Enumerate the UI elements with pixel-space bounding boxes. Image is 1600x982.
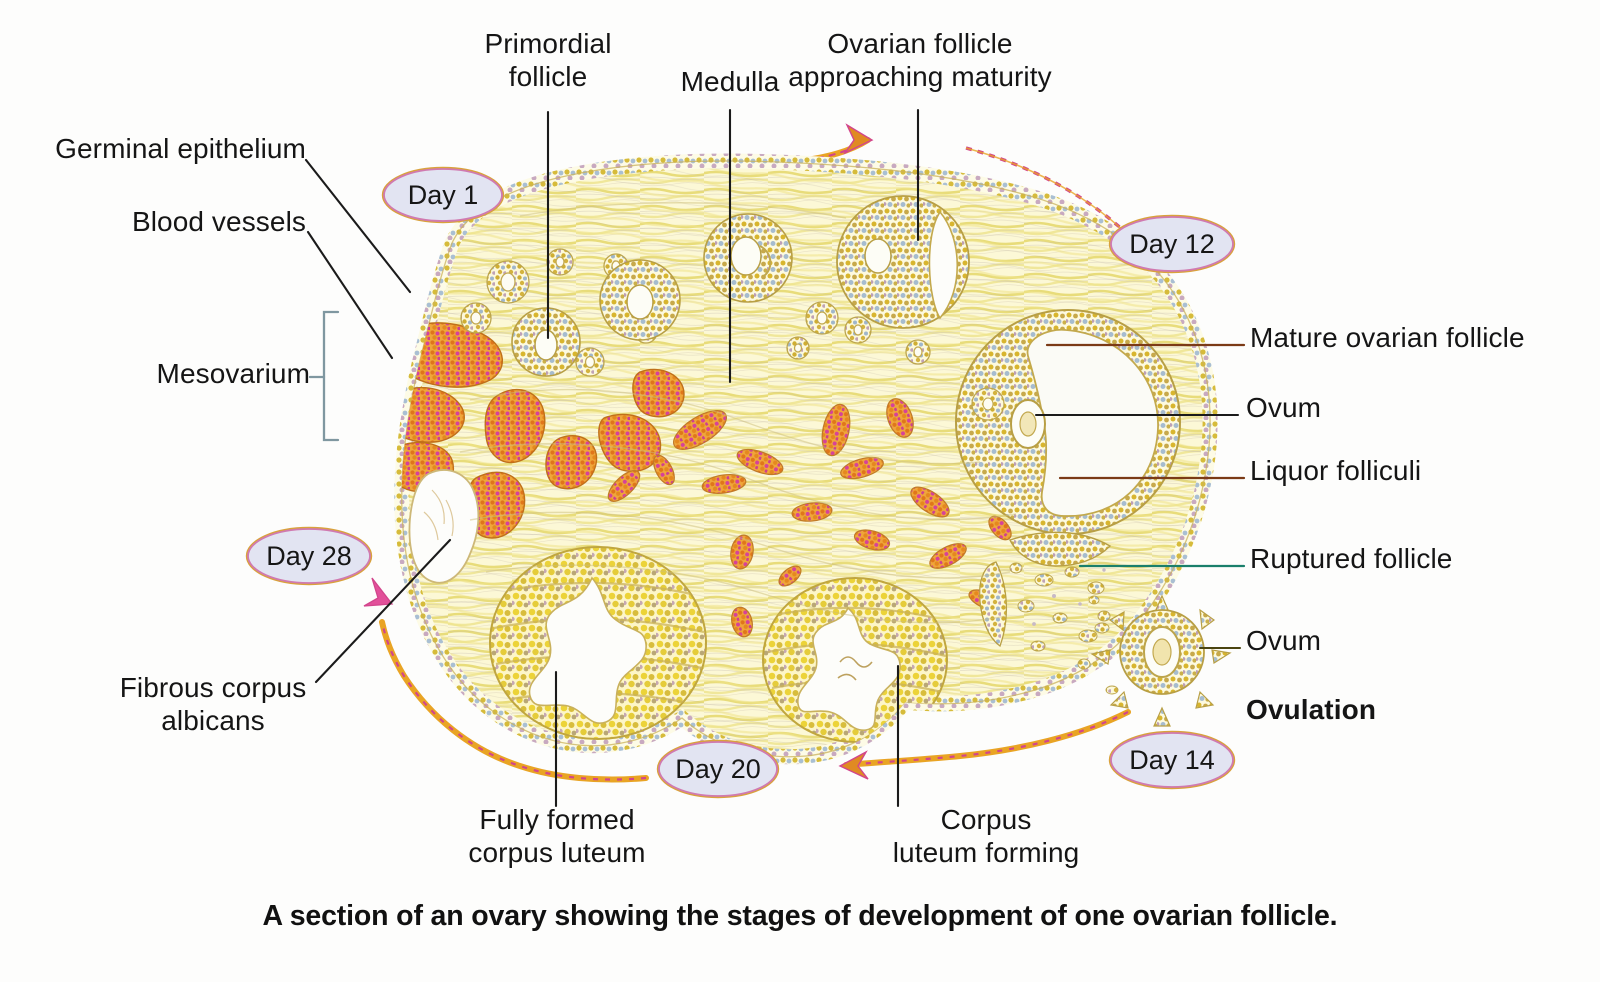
label-corpus-luteum-forming: Corpus luteum forming	[806, 804, 1166, 870]
label-germinal-epithelium: Germinal epithelium	[16, 133, 306, 166]
primordial-follicle	[512, 308, 580, 376]
mesovarium-bracket	[310, 312, 338, 440]
label-fully-formed-corpus-luteum: Fully formed corpus luteum	[372, 804, 742, 870]
label-ovarian-follicle-approaching-maturity: Ovarian follicle approaching maturity	[760, 28, 1080, 94]
blood-vessels-leader	[308, 232, 392, 358]
ovum-in-mature-follicle	[1011, 400, 1045, 448]
follicle-approaching-maturity	[837, 196, 969, 328]
label-mesovarium: Mesovarium	[10, 358, 310, 391]
label-liquor-folliculi: Liquor folliculi	[1250, 455, 1550, 488]
label-ovum-released: Ovum	[1246, 625, 1496, 658]
day-badge-day-14: Day 14	[1110, 733, 1234, 787]
mature-ovarian-follicle	[956, 310, 1180, 534]
label-ovulation: Ovulation	[1246, 694, 1526, 727]
day-badge-day-28: Day 28	[247, 529, 371, 583]
day-badge-day-12: Day 12	[1110, 217, 1234, 271]
ovary-diagram-figure: Germinal epithelium Blood vessels Mesova…	[0, 0, 1600, 982]
day-badge-day-20: Day 20	[658, 742, 778, 796]
day-badge-day-1: Day 1	[383, 168, 503, 222]
label-ruptured-follicle: Ruptured follicle	[1250, 543, 1580, 576]
label-blood-vessels: Blood vessels	[16, 206, 306, 239]
label-fibrous-corpus-albicans: Fibrous corpus albicans	[88, 672, 338, 738]
label-mature-ovarian-follicle: Mature ovarian follicle	[1250, 322, 1600, 355]
label-ovum-right: Ovum	[1246, 392, 1496, 425]
figure-caption: A section of an ovary showing the stages…	[0, 900, 1600, 933]
fully-formed-corpus-luteum	[490, 547, 706, 739]
